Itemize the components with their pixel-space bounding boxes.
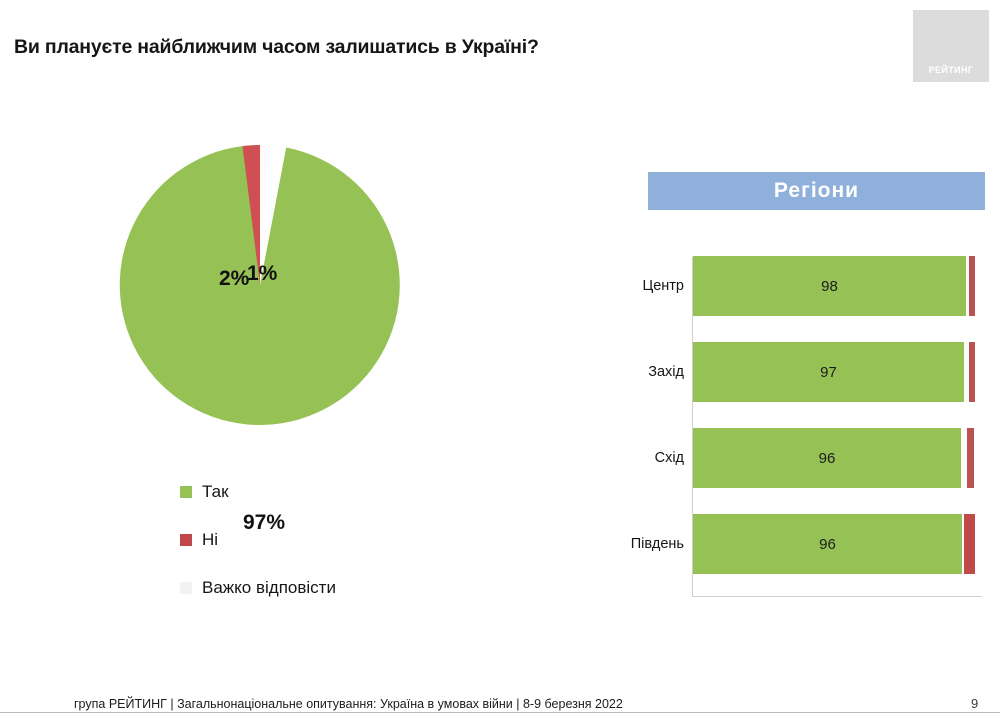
pie-label-hard: 1% [247,262,277,286]
regions-panel: Регіони Центр 98 Захід 97 [612,160,992,620]
bar-row-west: Захід 97 [612,342,992,402]
bar-category-south: Південь [612,514,684,574]
bar-segment-no-south[interactable] [964,514,975,574]
regions-banner: Регіони [648,172,985,210]
page-title: Ви плануєте найближчим часом залишатись … [14,36,539,59]
legend-swatch-no [180,534,192,546]
page-number: 9 [971,696,978,711]
footer-divider [0,712,1000,713]
bar-segment-yes-south[interactable]: 96 [693,514,962,574]
bar-category-center: Центр [612,256,684,316]
bar-segment-yes-west[interactable]: 97 [693,342,964,402]
brand-logo: РЕЙТИНГ [913,10,989,82]
bar-row-south: Південь 96 [612,514,992,574]
bar-value-center: 98 [693,256,966,316]
legend-swatch-hard [180,582,192,594]
pie-chart-svg [0,120,520,460]
legend-item-hard[interactable]: Важко відповісти [180,564,336,612]
pie-label-no: 2% [219,267,249,291]
bar-track-east: 96 [693,428,977,488]
bar-category-east: Схід [612,428,684,488]
legend-item-no[interactable]: Ні [180,516,336,564]
bar-track-center: 98 [693,256,977,316]
bar-value-east: 96 [693,428,961,488]
bar-segment-no-center[interactable] [969,256,975,316]
bar-category-west: Захід [612,342,684,402]
regions-bar-chart: Центр 98 Захід 97 Схід [612,252,992,597]
bar-track-south: 96 [693,514,977,574]
legend-label-hard: Важко відповісти [202,578,336,598]
brand-logo-label: РЕЙТИНГ [929,65,974,75]
bar-segment-no-east[interactable] [967,428,974,488]
legend-item-yes[interactable]: Так [180,468,336,516]
legend-swatch-yes [180,486,192,498]
legend-label-yes: Так [202,482,229,502]
bar-segment-yes-center[interactable]: 98 [693,256,966,316]
pie-legend: Так Ні Важко відповісти [180,468,336,612]
chart-axis-horizontal [692,596,982,597]
bar-row-center: Центр 98 [612,256,992,316]
bar-segment-no-west[interactable] [969,342,975,402]
bar-segment-yes-east[interactable]: 96 [693,428,961,488]
bar-track-west: 97 [693,342,977,402]
legend-label-no: Ні [202,530,218,550]
regions-banner-label: Регіони [774,179,859,203]
footer-source: група РЕЙТИНГ | Загальнонаціональне опит… [74,697,623,711]
bar-value-west: 97 [693,342,964,402]
bar-value-south: 96 [693,514,962,574]
bar-row-east: Схід 96 [612,428,992,488]
